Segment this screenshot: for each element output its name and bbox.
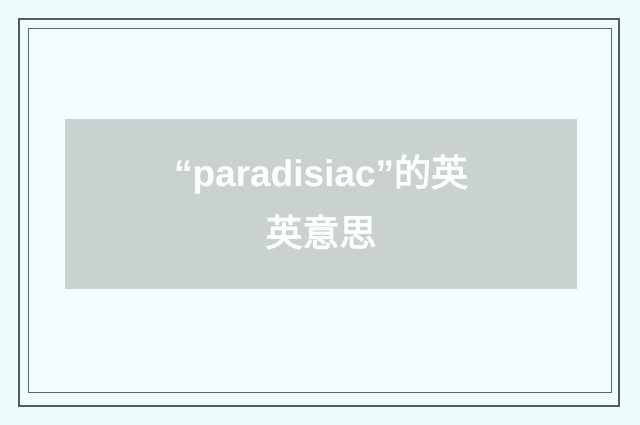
title-banner: “paradisiac”的英英意思 xyxy=(65,119,577,289)
outer-border-frame: “paradisiac”的英英意思 xyxy=(18,18,620,407)
page-root: “paradisiac”的英英意思 xyxy=(0,0,640,425)
inner-border-frame: “paradisiac”的英英意思 xyxy=(28,28,612,393)
page-title: “paradisiac”的英英意思 xyxy=(171,144,471,264)
